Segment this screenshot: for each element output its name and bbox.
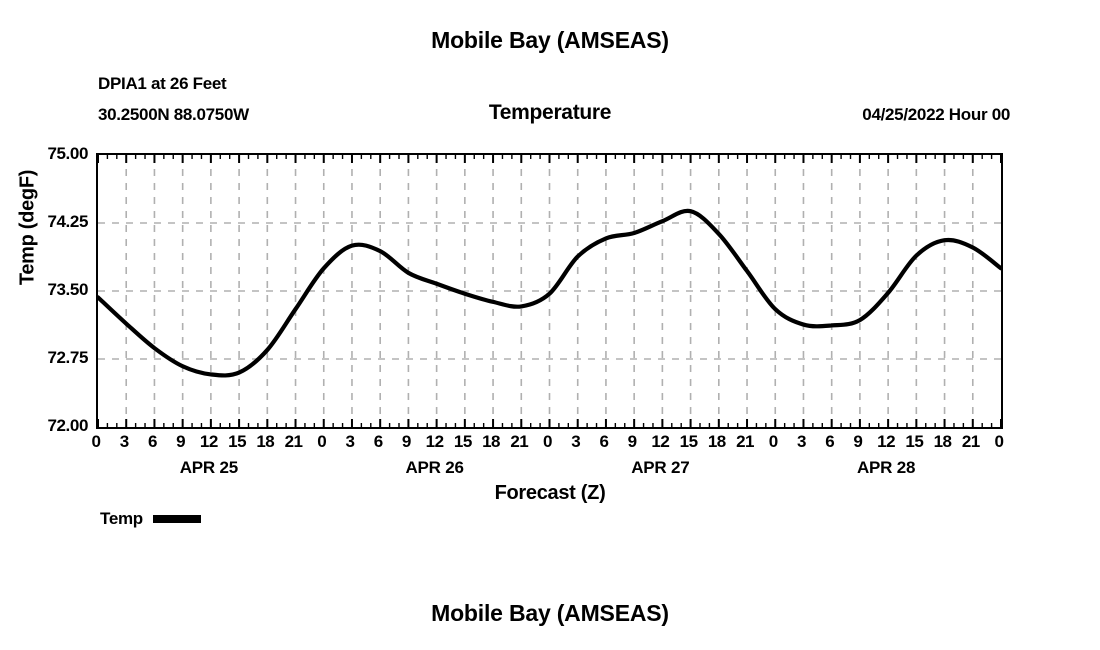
x-axis-title: Forecast (Z) bbox=[0, 482, 1100, 505]
chart-page: Mobile Bay (AMSEAS) DPIA1 at 26 Feet 30.… bbox=[0, 0, 1100, 650]
legend: Temp bbox=[100, 509, 201, 529]
legend-line-swatch bbox=[153, 515, 201, 523]
x-day-label: APR 25 bbox=[139, 458, 279, 478]
x-day-label: APR 27 bbox=[590, 458, 730, 478]
model-run-time: 04/25/2022 Hour 00 bbox=[862, 105, 1010, 125]
x-axis-day-labels: APR 25APR 26APR 27APR 28 bbox=[96, 458, 999, 482]
page-title: Mobile Bay (AMSEAS) bbox=[0, 27, 1100, 54]
temperature-line bbox=[98, 211, 1001, 376]
y-tick-label: 74.25 bbox=[10, 213, 88, 230]
legend-label: Temp bbox=[100, 509, 143, 529]
top-axis-ticks bbox=[98, 155, 1001, 163]
y-tick-label: 73.50 bbox=[10, 281, 88, 298]
x-tick-label: 0 bbox=[979, 432, 1019, 452]
x-axis-hour-labels: 0369121518210369121518210369121518210369… bbox=[96, 432, 999, 456]
footer-title: Mobile Bay (AMSEAS) bbox=[0, 600, 1100, 627]
station-info: DPIA1 at 26 Feet bbox=[98, 74, 226, 94]
bottom-axis-ticks bbox=[98, 419, 1001, 427]
y-axis-labels: 75.0074.2573.5072.7572.00 bbox=[0, 153, 88, 425]
chart-canvas bbox=[98, 155, 1001, 427]
plot-area bbox=[96, 153, 1003, 429]
y-tick-label: 75.00 bbox=[10, 145, 88, 162]
y-tick-label: 72.75 bbox=[10, 349, 88, 366]
x-day-label: APR 28 bbox=[816, 458, 956, 478]
x-day-label: APR 26 bbox=[365, 458, 505, 478]
